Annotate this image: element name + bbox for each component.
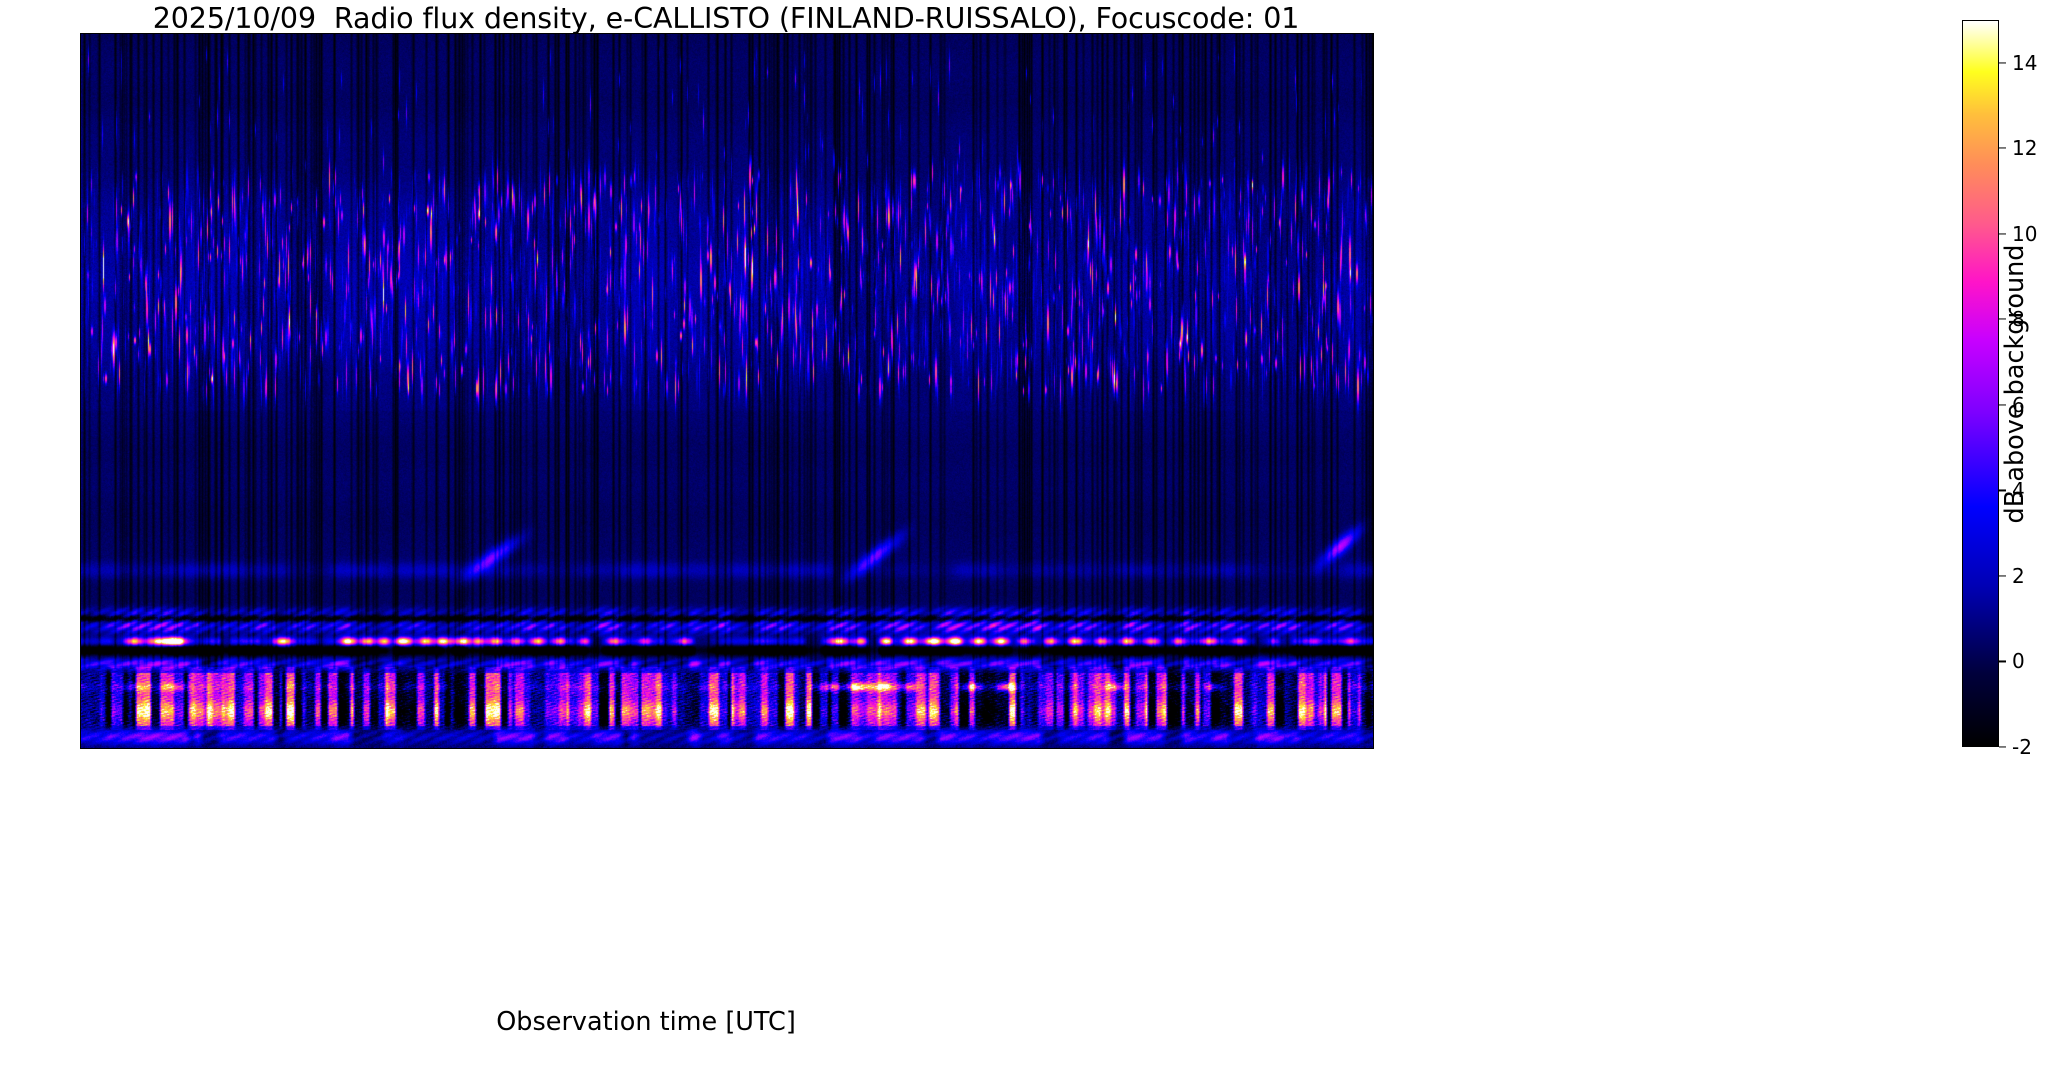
spectrogram-figure: 2025/10/09 Radio flux density, e-CALLIST… bbox=[0, 0, 2047, 1067]
colorbar-tick-mark bbox=[1999, 233, 2006, 234]
colorbar-tick-label: -2 bbox=[2012, 735, 2032, 759]
colorbar-gradient bbox=[1962, 20, 1999, 747]
page-title: 2025/10/09 Radio flux density, e-CALLIST… bbox=[80, 2, 1372, 35]
colorbar-tick-mark bbox=[1999, 148, 2006, 149]
x-tick-mark bbox=[1028, 748, 1029, 749]
colorbar-tick-label: 10 bbox=[2012, 222, 2037, 246]
colorbar-label: dB above background bbox=[2000, 245, 2030, 524]
x-tick-mark bbox=[425, 748, 426, 749]
colorbar-tick-mark bbox=[1999, 62, 2006, 63]
x-tick-mark bbox=[1200, 748, 1201, 749]
y-tick-mark bbox=[80, 450, 81, 451]
x-tick-mark bbox=[339, 748, 340, 749]
y-tick-mark bbox=[80, 152, 81, 153]
colorbar-tick-mark bbox=[1999, 575, 2006, 576]
spectrogram-plot-area: 807060504030201013:0013:0113:0213:0313:0… bbox=[80, 33, 1374, 749]
y-tick-mark bbox=[80, 252, 81, 253]
x-tick-mark bbox=[1286, 748, 1287, 749]
colorbar-tick-label: 12 bbox=[2012, 136, 2037, 160]
colorbar-tick-label: 2 bbox=[2012, 564, 2025, 588]
x-tick-mark bbox=[770, 748, 771, 749]
y-tick-mark bbox=[80, 549, 81, 550]
x-tick-mark bbox=[80, 748, 81, 749]
colorbar-tick-label: 0 bbox=[2012, 649, 2025, 673]
x-tick-mark bbox=[683, 748, 684, 749]
y-tick-mark bbox=[80, 53, 81, 54]
colorbar: 14121086420-2 bbox=[1962, 20, 1999, 747]
colorbar-tick-label: 14 bbox=[2012, 51, 2037, 75]
x-tick-mark bbox=[511, 748, 512, 749]
x-tick-mark bbox=[1114, 748, 1115, 749]
y-tick-mark bbox=[80, 648, 81, 649]
colorbar-tick-mark bbox=[1999, 746, 2006, 747]
x-tick-mark bbox=[597, 748, 598, 749]
x-tick-mark bbox=[167, 748, 168, 749]
y-tick-mark bbox=[80, 351, 81, 352]
x-axis-label: Observation time [UTC] bbox=[496, 1007, 796, 1037]
colorbar-tick-mark bbox=[1999, 661, 2006, 662]
spectrogram-image bbox=[81, 34, 1373, 748]
x-tick-mark bbox=[942, 748, 943, 749]
x-tick-mark bbox=[856, 748, 857, 749]
x-tick-mark bbox=[253, 748, 254, 749]
